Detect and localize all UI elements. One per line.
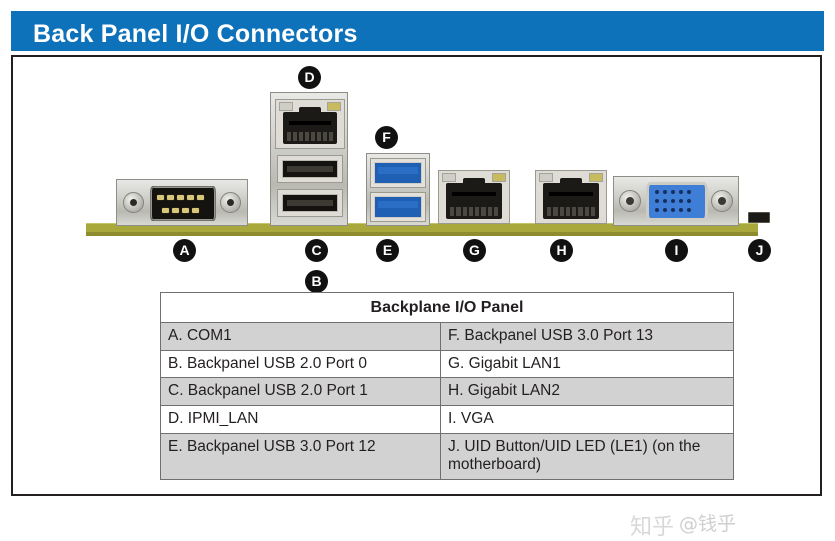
gigabit-lan1-port [438, 170, 510, 224]
backplane-io-table: Backplane I/O Panel A. COM1 F. Backpanel… [160, 292, 734, 480]
callout-badge-b: B [305, 270, 328, 293]
table-cell-right: H. Gigabit LAN2 [441, 378, 734, 406]
vga-screw-right [711, 190, 733, 212]
table-cell-right: G. Gigabit LAN1 [441, 350, 734, 378]
table-row: B. Backpanel USB 2.0 Port 0 G. Gigabit L… [161, 350, 734, 378]
watermark-handle: @钱乎 [679, 509, 736, 536]
ipmi-lan-port [275, 99, 345, 149]
lan1-link-led-icon [442, 173, 456, 182]
callout-badge-f: F [375, 126, 398, 149]
page-root: Back Panel I/O Connectors [0, 0, 835, 508]
content-frame: A B C D E F G H I J Backplane I/O Panel … [11, 55, 822, 496]
com1-screw-right [220, 192, 241, 213]
table-cell-right: I. VGA [441, 405, 734, 433]
callout-badge-h: H [550, 239, 573, 262]
usb3-port-13 [370, 158, 426, 188]
table-cell-left: D. IPMI_LAN [161, 405, 441, 433]
callout-badge-c: C [305, 239, 328, 262]
com1-dsub-shell [150, 186, 216, 221]
callout-badge-d: D [298, 66, 321, 89]
table-row: D. IPMI_LAN I. VGA [161, 405, 734, 433]
ipmi-jack-body [283, 112, 337, 144]
back-panel-illustration: A B C D E F G H I J [13, 57, 824, 297]
usb2-port-0 [277, 189, 343, 217]
callout-badge-i: I [665, 239, 688, 262]
ipmi-activity-led-icon [327, 102, 341, 111]
usb3-port-12 [370, 192, 426, 222]
vga-screw-left [619, 190, 641, 212]
pcb-edge-shadow [86, 232, 758, 236]
table-cell-left: C. Backpanel USB 2.0 Port 1 [161, 378, 441, 406]
callout-badge-j: J [748, 239, 771, 262]
table-header-row: Backplane I/O Panel [161, 293, 734, 323]
com1-port [116, 179, 248, 226]
table-cell-right: J. UID Button/UID LED (LE1) (on the moth… [441, 433, 734, 479]
com1-pin-row-bottom [162, 208, 199, 213]
table-title: Backplane I/O Panel [161, 293, 734, 323]
callout-badge-g: G [463, 239, 486, 262]
watermark-logo: 知乎 [630, 509, 674, 541]
vga-dsub-shell [646, 182, 708, 221]
com1-screw-left [123, 192, 144, 213]
com1-pin-row-top [157, 195, 204, 200]
callout-badge-e: E [376, 239, 399, 262]
lan1-activity-led-icon [492, 173, 506, 182]
table-cell-right: F. Backpanel USB 3.0 Port 13 [441, 323, 734, 351]
lan2-link-led-icon [539, 173, 553, 182]
ipmi-usb2-stack [270, 92, 348, 226]
table-cell-left: E. Backpanel USB 3.0 Port 12 [161, 433, 441, 479]
table-row: E. Backpanel USB 3.0 Port 12 J. UID Butt… [161, 433, 734, 479]
gigabit-lan2-port [535, 170, 607, 224]
lan2-activity-led-icon [589, 173, 603, 182]
vga-port [613, 176, 739, 226]
usb2-port-1 [277, 155, 343, 183]
table-cell-left: A. COM1 [161, 323, 441, 351]
callout-badge-a: A [173, 239, 196, 262]
table-row: A. COM1 F. Backpanel USB 3.0 Port 13 [161, 323, 734, 351]
usb3-stack [366, 153, 430, 226]
page-title: Back Panel I/O Connectors [33, 20, 358, 49]
table-row: C. Backpanel USB 2.0 Port 1 H. Gigabit L… [161, 378, 734, 406]
table-cell-left: B. Backpanel USB 2.0 Port 0 [161, 350, 441, 378]
section-header-bar: Back Panel I/O Connectors [11, 11, 824, 51]
ipmi-link-led-icon [279, 102, 293, 111]
uid-button-led [748, 212, 770, 223]
